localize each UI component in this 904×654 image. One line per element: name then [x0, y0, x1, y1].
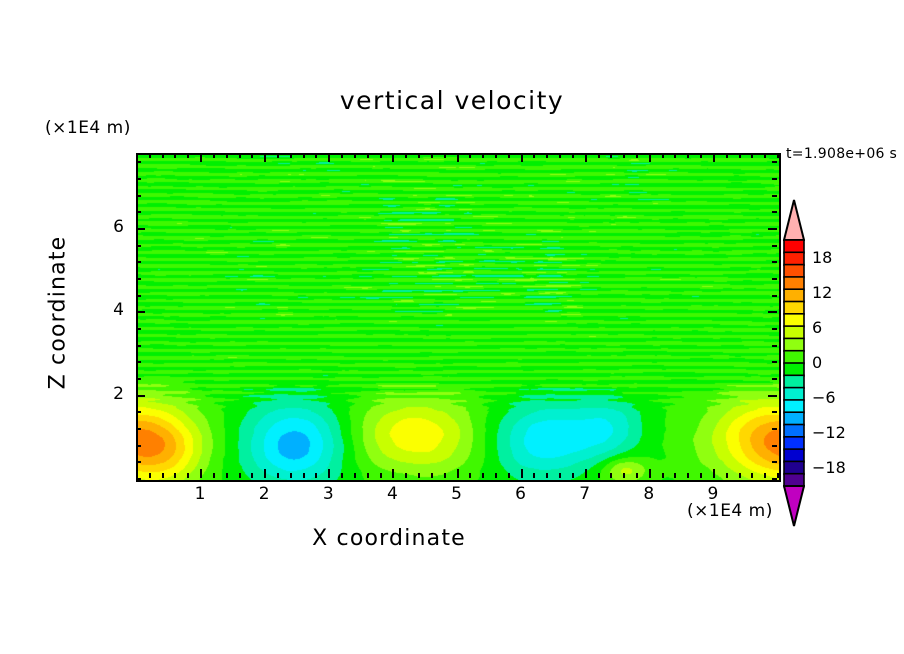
colorbar-tick-label: −12 — [812, 423, 846, 442]
colorbar-band — [784, 277, 804, 290]
colorbar-band — [784, 351, 804, 364]
x-tick — [495, 473, 497, 478]
x-tick-top — [226, 153, 228, 158]
x-tick — [251, 473, 253, 478]
y-tick-right — [772, 178, 777, 180]
x-tick — [213, 473, 215, 478]
x-tick — [418, 473, 420, 478]
x-tick — [508, 473, 510, 478]
y-tick-right — [772, 428, 777, 430]
colorbar-band — [784, 265, 804, 278]
x-tick-top — [367, 153, 369, 158]
z-axis-unit-label: (×1E4 m) — [45, 118, 131, 138]
x-tick-top — [405, 153, 407, 158]
y-tick — [136, 261, 141, 263]
x-tick — [444, 473, 446, 478]
x-tick-top — [290, 153, 292, 158]
x-tick-top — [444, 153, 446, 158]
x-tick — [623, 473, 625, 478]
timestamp-label: t=1.908e+06 s — [786, 146, 897, 162]
x-tick — [764, 473, 766, 478]
x-tick — [572, 473, 574, 478]
x-tick-top — [213, 153, 215, 158]
colorbar-band — [784, 437, 804, 450]
colorbar-band — [784, 375, 804, 388]
x-tick — [200, 469, 202, 478]
y-tick-label: 4 — [84, 300, 124, 320]
y-tick — [136, 245, 141, 247]
x-tick-top — [572, 153, 574, 158]
x-tick-top — [149, 153, 151, 158]
x-tick — [610, 473, 612, 478]
x-tick — [533, 473, 535, 478]
colorbar-band — [784, 388, 804, 401]
y-tick-right — [772, 278, 777, 280]
x-tick-label: 2 — [244, 484, 284, 504]
contour-plot-figure: vertical velocity (×1E4 m) (×1E4 m) t=1.… — [0, 0, 904, 654]
x-tick — [751, 473, 753, 478]
x-tick — [469, 473, 471, 478]
colorbar-under-cap — [784, 486, 804, 526]
colorbar-band — [784, 338, 804, 351]
x-tick-top — [687, 153, 689, 158]
x-tick — [303, 473, 305, 478]
colorbar-band — [784, 326, 804, 339]
x-tick — [328, 469, 330, 478]
colorbar-tick-label: −6 — [812, 388, 836, 407]
y-tick-right — [768, 311, 777, 313]
y-tick-right — [772, 195, 777, 197]
y-tick — [136, 295, 141, 297]
x-tick-top — [777, 153, 779, 158]
y-tick-right — [772, 261, 777, 263]
colorbar-band — [784, 289, 804, 302]
x-tick-top — [636, 153, 638, 158]
x-tick — [636, 473, 638, 478]
y-tick — [136, 411, 141, 413]
colorbar — [783, 198, 805, 528]
x-tick-top — [495, 153, 497, 158]
y-tick-right — [772, 461, 777, 463]
x-tick-top — [623, 153, 625, 158]
x-tick-top — [469, 153, 471, 158]
x-axis-title: X coordinate — [0, 526, 778, 551]
x-tick-top — [649, 153, 651, 162]
colorbar-band — [784, 449, 804, 462]
colorbar-tick-label: −18 — [812, 458, 846, 477]
x-tick — [264, 469, 266, 478]
x-tick-top — [713, 153, 715, 162]
x-tick-top — [662, 153, 664, 158]
y-tick — [136, 361, 141, 363]
x-tick — [315, 473, 317, 478]
x-tick-top — [598, 153, 600, 158]
x-tick — [187, 473, 189, 478]
y-tick — [136, 161, 141, 163]
x-tick-label: 9 — [693, 484, 733, 504]
y-tick-right — [768, 395, 777, 397]
y-tick — [136, 428, 141, 430]
colorbar-tick-label: 6 — [812, 318, 822, 337]
x-tick-label: 6 — [501, 484, 541, 504]
colorbar-band — [784, 412, 804, 425]
y-tick — [136, 445, 141, 447]
x-tick-top — [380, 153, 382, 158]
x-tick-label: 3 — [308, 484, 348, 504]
x-tick-top — [277, 153, 279, 158]
y-tick — [136, 328, 141, 330]
x-tick-top — [251, 153, 253, 158]
x-tick-top — [585, 153, 587, 162]
x-tick-top — [303, 153, 305, 158]
y-tick-right — [768, 228, 777, 230]
plot-frame — [136, 153, 781, 482]
x-tick-label: 7 — [565, 484, 605, 504]
x-axis-unit-label: (×1E4 m) — [687, 501, 773, 521]
colorbar-tick-label: 18 — [812, 248, 832, 267]
x-tick-top — [187, 153, 189, 158]
y-tick — [136, 195, 141, 197]
x-tick — [290, 473, 292, 478]
x-tick-top — [418, 153, 420, 158]
colorbar-band — [784, 302, 804, 315]
x-tick — [392, 469, 394, 478]
x-tick-top — [482, 153, 484, 158]
x-tick-top — [162, 153, 164, 158]
x-tick-top — [610, 153, 612, 158]
x-tick-label: 1 — [180, 484, 220, 504]
y-tick-label: 2 — [84, 384, 124, 404]
x-tick-top — [739, 153, 741, 158]
colorbar-tick-label: 0 — [812, 353, 822, 372]
y-tick — [136, 178, 141, 180]
x-tick — [546, 473, 548, 478]
y-tick — [136, 395, 145, 397]
x-tick-label: 8 — [629, 484, 669, 504]
x-tick-top — [200, 153, 202, 162]
y-tick — [136, 211, 141, 213]
y-tick — [136, 478, 141, 480]
x-tick — [341, 473, 343, 478]
x-tick — [149, 473, 151, 478]
x-tick-top — [431, 153, 433, 158]
y-tick — [136, 228, 145, 230]
page-title: vertical velocity — [0, 86, 904, 115]
y-tick-label: 6 — [84, 217, 124, 237]
x-tick-top — [457, 153, 459, 162]
x-tick — [777, 473, 779, 478]
colorbar-band — [784, 252, 804, 265]
x-tick-top — [700, 153, 702, 158]
y-axis-title: Z coordinate — [46, 213, 71, 413]
x-tick — [649, 469, 651, 478]
y-tick-right — [772, 161, 777, 163]
x-tick-top — [341, 153, 343, 158]
y-tick — [136, 278, 141, 280]
colorbar-band — [784, 425, 804, 438]
x-tick — [662, 473, 664, 478]
x-tick — [226, 473, 228, 478]
y-tick-right — [772, 361, 777, 363]
x-tick — [162, 473, 164, 478]
y-tick — [136, 311, 145, 313]
x-tick-top — [559, 153, 561, 158]
x-tick-top — [764, 153, 766, 158]
colorbar-tick-label: 12 — [812, 283, 832, 302]
x-tick — [521, 469, 523, 478]
x-tick-top — [239, 153, 241, 158]
x-tick-top — [354, 153, 356, 158]
x-tick-top — [521, 153, 523, 162]
colorbar-band — [784, 400, 804, 413]
x-tick — [431, 473, 433, 478]
x-tick-top — [751, 153, 753, 158]
x-tick — [559, 473, 561, 478]
x-tick — [598, 473, 600, 478]
x-tick — [585, 469, 587, 478]
x-tick-top — [174, 153, 176, 158]
y-tick-right — [772, 378, 777, 380]
y-tick-right — [772, 211, 777, 213]
x-tick-top — [508, 153, 510, 158]
x-tick-top — [328, 153, 330, 162]
x-tick-top — [136, 153, 138, 158]
y-tick — [136, 378, 141, 380]
colorbar-over-cap — [784, 200, 804, 240]
colorbar-band — [784, 363, 804, 376]
x-tick — [726, 473, 728, 478]
x-tick — [277, 473, 279, 478]
y-tick-right — [772, 445, 777, 447]
y-tick-right — [772, 345, 777, 347]
y-tick-right — [772, 411, 777, 413]
x-tick-top — [392, 153, 394, 162]
y-tick — [136, 461, 141, 463]
x-tick — [713, 469, 715, 478]
x-tick — [405, 473, 407, 478]
colorbar-band — [784, 240, 804, 253]
colorbar-band — [784, 314, 804, 327]
x-tick — [739, 473, 741, 478]
x-tick — [457, 469, 459, 478]
colorbar-band — [784, 461, 804, 474]
x-tick — [687, 473, 689, 478]
x-tick-label: 4 — [372, 484, 412, 504]
x-tick — [674, 473, 676, 478]
x-tick-top — [533, 153, 535, 158]
y-tick-right — [772, 328, 777, 330]
x-tick — [354, 473, 356, 478]
x-tick-top — [726, 153, 728, 158]
x-tick-top — [674, 153, 676, 158]
y-tick — [136, 345, 141, 347]
x-tick-top — [546, 153, 548, 158]
colorbar-band — [784, 474, 804, 487]
x-tick-label: 5 — [437, 484, 477, 504]
x-tick — [700, 473, 702, 478]
x-tick — [367, 473, 369, 478]
x-tick-top — [264, 153, 266, 162]
x-tick — [239, 473, 241, 478]
x-tick — [482, 473, 484, 478]
contour-field-canvas — [138, 155, 779, 480]
y-tick-right — [772, 295, 777, 297]
y-tick-right — [772, 478, 777, 480]
x-tick-top — [315, 153, 317, 158]
y-tick-right — [772, 245, 777, 247]
x-tick — [174, 473, 176, 478]
x-tick — [380, 473, 382, 478]
